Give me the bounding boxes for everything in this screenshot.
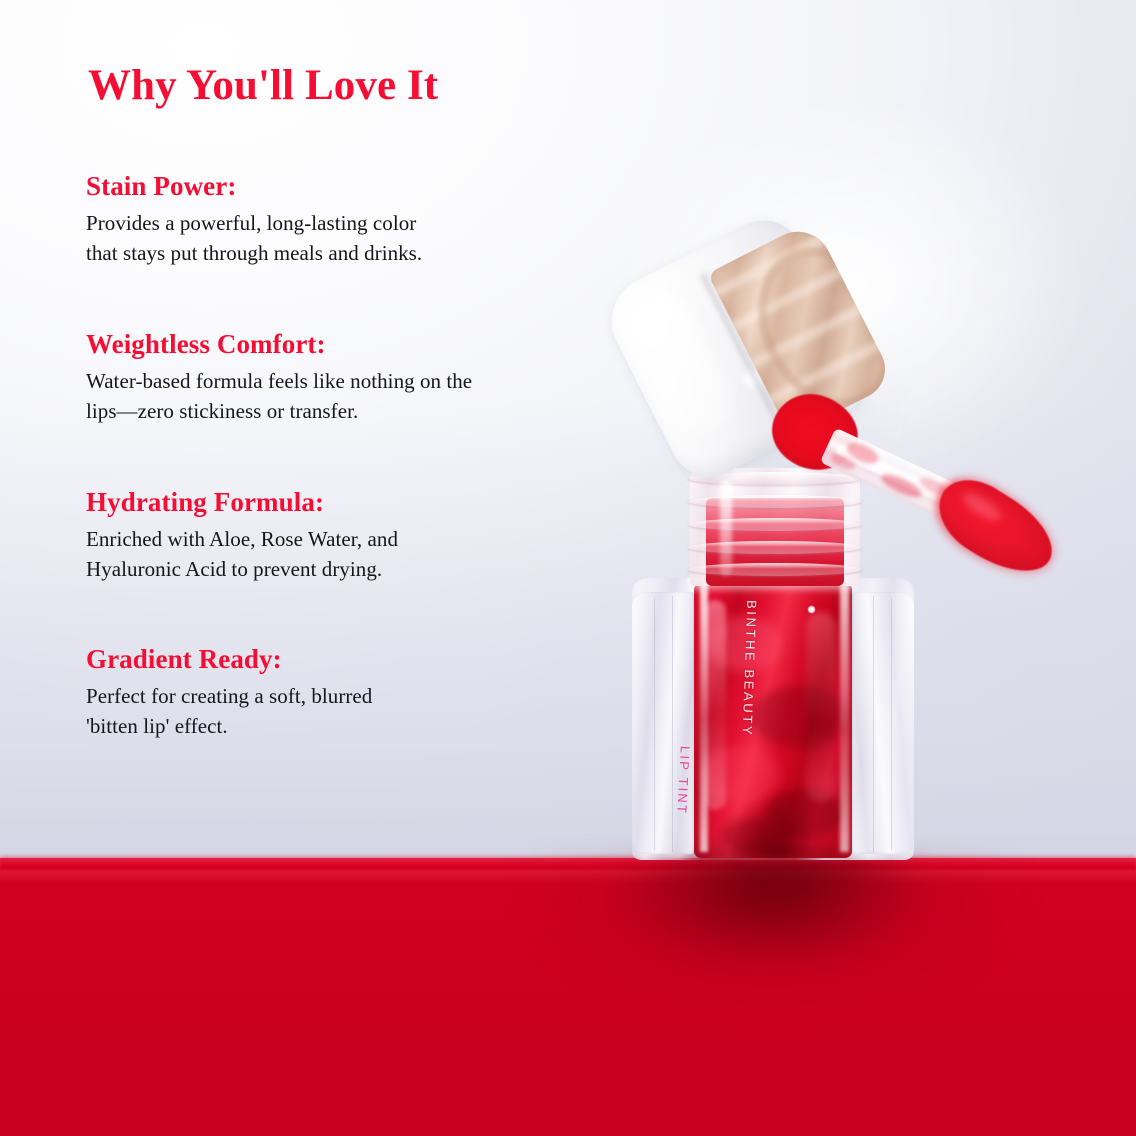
glass-specular-dot [808, 606, 815, 613]
glass-edge-highlight-left [700, 584, 708, 852]
liquid-base-shadow [728, 794, 820, 858]
liquid-highlight-right [806, 612, 836, 802]
product-photo-lip-tint: BINTHE BEAUTY LIP TINT [0, 0, 1136, 1136]
tint-liquid [694, 582, 852, 858]
product-feature-banner: Why You'll Love It Stain Power: Provides… [0, 0, 1136, 1136]
bottle-body: BINTHE BEAUTY LIP TINT [632, 578, 914, 860]
glass-facet-right [852, 592, 914, 854]
glass-edge-highlight-right [840, 584, 849, 852]
cap-assembly [636, 236, 1036, 526]
